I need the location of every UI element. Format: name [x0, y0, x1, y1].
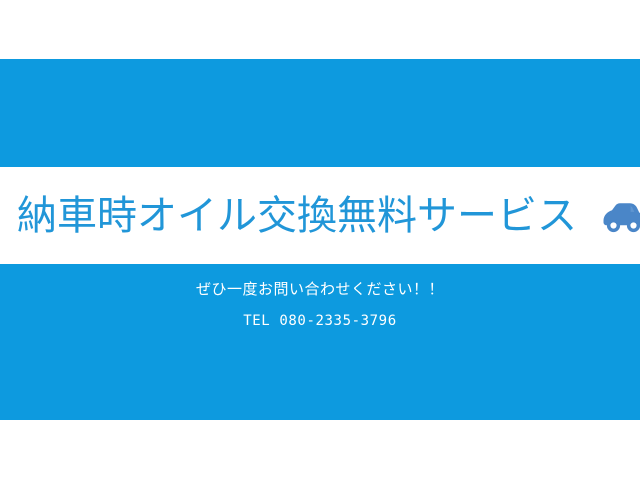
contact-invitation-text: ぜひ一度お問い合わせください！！ — [196, 278, 444, 300]
band-white-top — [0, 0, 640, 59]
headline-row: 納車時オイル交換無料サービス — [0, 167, 640, 264]
car-icon — [599, 196, 640, 236]
contact-block: ぜひ一度お問い合わせください！！ TEL 080-2335-3796 — [0, 264, 640, 420]
contact-phone-text: TEL 080-2335-3796 — [243, 310, 397, 332]
band-white-bottom — [0, 420, 640, 480]
headline-text: 納車時オイル交換無料サービス — [17, 196, 577, 236]
band-blue-top — [0, 59, 640, 167]
promo-banner: 納車時オイル交換無料サービス ぜひ一度お問い合わせください！！ TEL 080-… — [0, 0, 640, 480]
